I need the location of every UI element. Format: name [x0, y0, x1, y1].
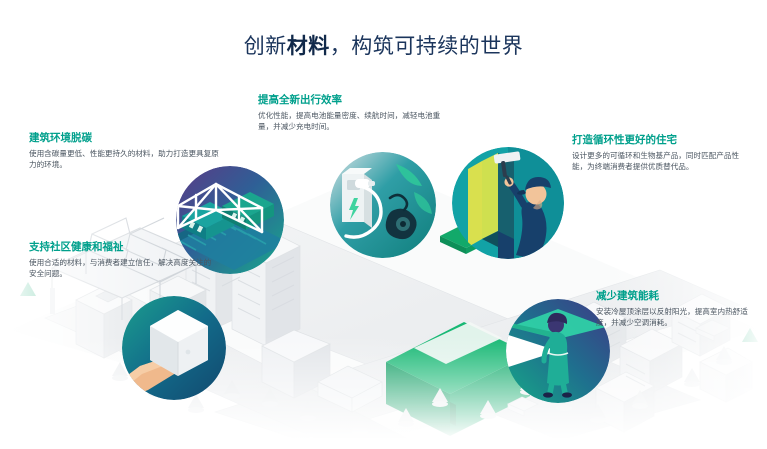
callout-heading: 提高全新出行效率	[258, 94, 448, 107]
parasol-person-illustration	[506, 299, 610, 403]
callout-body: 安装冷屋顶涂层以反射阳光，提高室内热舒适度，并减少空调消耗。	[596, 306, 760, 328]
hand-package-illustration	[122, 296, 226, 400]
callout-community-health: 支持社区健康和福祉 使用合适的材料，与消费者建立信任，解决高度关注的安全问题。	[29, 241, 215, 279]
callout-body: 使用合适的材料，与消费者建立信任，解决高度关注的安全问题。	[29, 257, 215, 279]
page-title-emphasis: 材料	[287, 35, 330, 58]
page-title-part1: 创新	[244, 35, 287, 58]
callout-circular-homes: 打造循环性更好的住宅 设计更多的可循环和生物基产品，同时匹配产品性能，为终端消费…	[572, 134, 748, 172]
callout-heading: 建筑环境脱碳	[29, 132, 225, 145]
callout-body: 优化性能，提高电池能量密度、续航时间，减轻电池重量，并减少充电时间。	[258, 110, 448, 132]
callout-building-energy: 减少建筑能耗 安装冷屋顶涂层以反射阳光，提高室内热舒适度，并减少空调消耗。	[596, 290, 760, 328]
ev-charging-illustration	[330, 152, 436, 258]
callout-body: 设计更多的可循环和生物基产品，同时匹配产品性能，为终端消费者提供优质替代品。	[572, 150, 748, 172]
callout-decarbonize-construction: 建筑环境脱碳 使用含碳量更低、性能更持久的材料，助力打造更具复原力的环境。	[29, 132, 225, 170]
callout-heading: 打造循环性更好的住宅	[572, 134, 748, 147]
callout-heading: 支持社区健康和福祉	[29, 241, 215, 254]
callout-heading: 减少建筑能耗	[596, 290, 760, 303]
painter-wall-illustration	[452, 147, 564, 259]
page-title: 创新材料，构筑可持续的世界	[0, 30, 767, 60]
callout-body: 使用含碳量更低、性能更持久的材料，助力打造更具复原力的环境。	[29, 148, 225, 170]
infographic-canvas: 创新材料，构筑可持续的世界	[0, 0, 767, 449]
page-title-part2: ，构筑可持续的世界	[330, 35, 524, 58]
callout-mobility-efficiency: 提高全新出行效率 优化性能，提高电池能量密度、续航时间，减轻电池重量，并减少充电…	[258, 94, 448, 132]
